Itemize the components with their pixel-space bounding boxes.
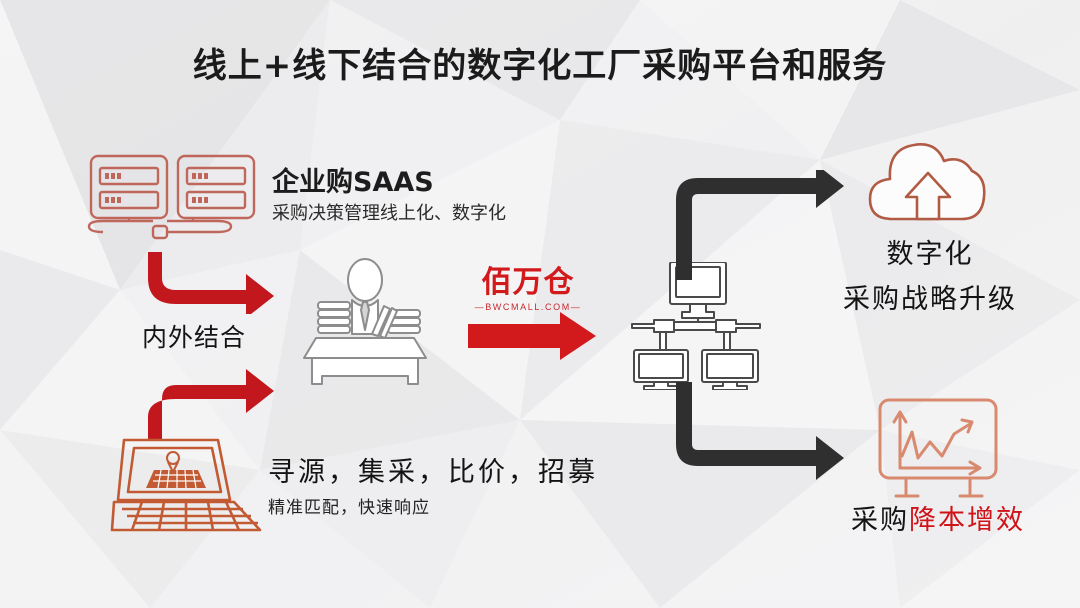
services-heading: 寻源，集采，比价，招募 <box>268 450 598 489</box>
services-subheading: 精准匹配，快速响应 <box>268 493 430 518</box>
cloud-text-block: 数字化 采购战略升级 <box>800 232 1060 316</box>
red-elbow-arrow-bottom <box>148 355 278 441</box>
chart-text-prefix: 采购 <box>851 505 909 536</box>
bwcmall-logo: 佰万仓 —BWCMALL.COM— <box>468 268 588 312</box>
computer-network-icon <box>628 262 768 390</box>
red-right-arrow <box>468 312 598 360</box>
cloud-upload-icon <box>866 135 990 225</box>
cloud-text-line2: 采购战略升级 <box>800 277 1060 316</box>
logo-mark-text: 佰万仓 <box>468 268 588 298</box>
inner-outer-label: 内外结合 <box>142 318 246 354</box>
saas-subheading: 采购决策管理线上化、数字化 <box>272 199 506 225</box>
server-rack-icon <box>85 152 260 247</box>
chart-text-emphasis: 降本增效 <box>909 505 1025 536</box>
red-elbow-arrow-top <box>148 252 278 314</box>
slide-canvas: 线上+线下结合的数字化工厂采购平台和服务 内外结合 企业购SAA <box>0 0 1080 608</box>
growth-chart-board-icon <box>874 398 1004 500</box>
person-at-desk-icon <box>300 258 430 390</box>
logo-domain-text: —BWCMALL.COM— <box>468 302 588 312</box>
slide-title: 线上+线下结合的数字化工厂采购平台和服务 <box>0 38 1080 87</box>
laptop-search-icon <box>106 436 266 534</box>
cloud-text-line1: 数字化 <box>800 232 1060 271</box>
saas-heading: 企业购SAAS <box>272 160 434 199</box>
chart-text-block: 采购降本增效 <box>808 498 1068 537</box>
dark-elbow-arrow-down <box>676 382 846 482</box>
